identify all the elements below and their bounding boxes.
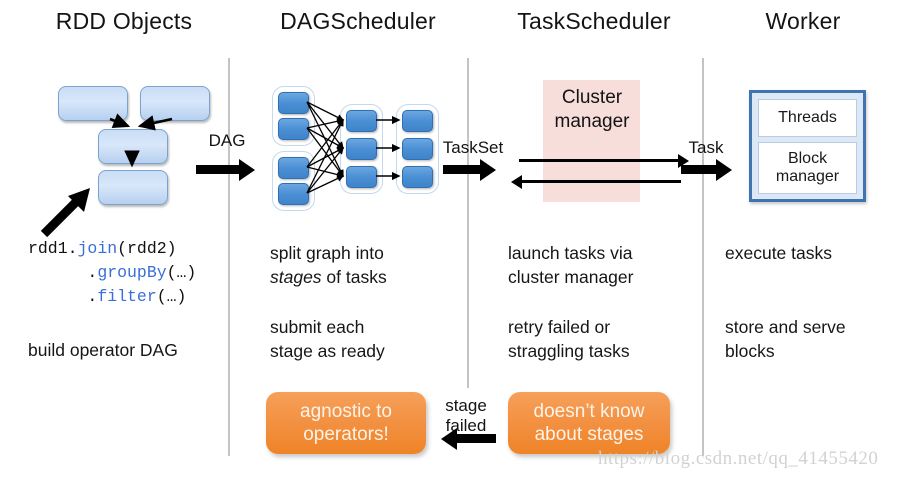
- column-header-taskscheduler: TaskScheduler: [517, 8, 670, 35]
- desc-split-emphasis: stages: [270, 267, 322, 287]
- callout-agnostic-to-operators: agnostic to operators!: [266, 392, 426, 454]
- arrow-from-cluster-manager: [521, 180, 681, 183]
- transition-label-task: Task: [689, 138, 724, 158]
- desc-submit-stage: submit each stage as ready: [270, 316, 385, 363]
- code-pointer-arrow: [40, 186, 100, 238]
- divider-task-worker: [702, 58, 704, 456]
- code-line1-prefix: rdd1.: [28, 239, 78, 258]
- arrow-to-cluster-manager: [519, 159, 679, 162]
- worker-threads-box: Threads: [758, 99, 857, 137]
- desc-launch-tasks: launch tasks via cluster manager: [508, 242, 633, 289]
- code-line3-method: filter: [97, 287, 156, 306]
- cluster-label-line2: manager: [555, 111, 630, 132]
- task-node-4: [278, 183, 309, 205]
- code-line3-suffix: (…): [157, 287, 187, 306]
- desc-split-suffix: of tasks: [322, 267, 387, 287]
- code-line2-suffix: (…): [167, 263, 197, 282]
- stage-failed-line1: stage: [445, 396, 487, 415]
- task-node-8: [402, 110, 433, 132]
- worker-box: Threads Block manager: [749, 90, 866, 202]
- task-node-9: [402, 138, 433, 160]
- cluster-manager-label: Clustermanager: [555, 86, 630, 134]
- desc-split-graph: split graph into stages of tasks: [270, 242, 387, 289]
- rdd-node-b: [140, 86, 210, 121]
- transition-label-taskset: TaskSet: [443, 138, 503, 158]
- task-node-7: [346, 166, 377, 188]
- transition-label-dag: DAG: [209, 131, 246, 151]
- code-line2-method: groupBy: [97, 263, 166, 282]
- divider-dag-task: [467, 58, 469, 388]
- task-node-1: [278, 92, 309, 114]
- task-node-5: [346, 110, 377, 132]
- task-node-3: [278, 157, 309, 179]
- rdd-node-a: [58, 86, 128, 121]
- arrow-task: [681, 165, 717, 174]
- watermark: https://blog.csdn.net/qq_41455420: [598, 448, 878, 470]
- desc-execute-tasks: execute tasks: [725, 242, 832, 266]
- column-header-worker: Worker: [766, 8, 841, 35]
- code-line2-prefix: .: [28, 263, 97, 282]
- rdd-node-result: [98, 170, 168, 205]
- spark-architecture-diagram: RDD Objects DAGScheduler TaskScheduler W…: [0, 0, 923, 482]
- task-node-6: [346, 138, 377, 160]
- desc-store-serve: store and serve blocks: [725, 316, 846, 363]
- cluster-label-line1: Cluster: [562, 87, 622, 108]
- rdd-code-snippet: rdd1.join(rdd2) .groupBy(…) .filter(…): [28, 237, 196, 309]
- callout-doesnt-know-about-stages: doesn’t know about stages: [508, 392, 670, 454]
- code-line3-prefix: .: [28, 287, 97, 306]
- desc-build-operator-dag: build operator DAG: [28, 339, 178, 363]
- rdd-node-join: [98, 129, 168, 164]
- column-header-dagscheduler: DAGScheduler: [280, 8, 436, 35]
- code-line1-method: join: [78, 239, 118, 258]
- divider-rdd-dag: [228, 58, 230, 456]
- code-line1-suffix: (rdd2): [117, 239, 176, 258]
- arrow-stage-failed: [456, 434, 496, 443]
- task-node-10: [402, 166, 433, 188]
- desc-split-prefix: split graph into: [270, 243, 384, 263]
- arrow-taskset: [443, 165, 481, 174]
- desc-retry-failed: retry failed or straggling tasks: [508, 316, 630, 363]
- column-header-rdd-objects: RDD Objects: [56, 8, 192, 35]
- task-node-2: [278, 118, 309, 140]
- arrow-dag: [196, 165, 240, 174]
- worker-block-manager-box: Block manager: [758, 142, 857, 194]
